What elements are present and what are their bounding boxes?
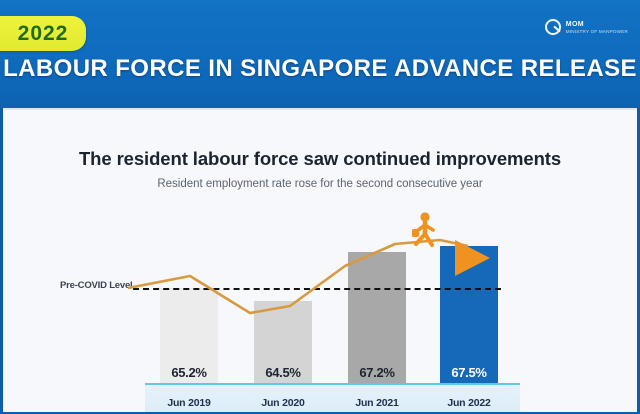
organisation-logo: MOM MINISTRY OF MANPOWER — [545, 19, 628, 36]
bar-fill — [440, 246, 498, 383]
bar-fill — [348, 252, 406, 383]
bar-value-label: 65.2% — [160, 365, 218, 380]
left-frame-edge — [0, 108, 3, 414]
year-badge-label: 2022 — [4, 22, 69, 46]
header-banner: 2022 MOM MINISTRY OF MANPOWER LABOUR FOR… — [0, 0, 640, 108]
x-axis-label: Jun 2022 — [434, 397, 504, 409]
logo-subtitle: MINISTRY OF MANPOWER — [566, 30, 628, 35]
bar-value-label: 64.5% — [254, 365, 312, 380]
bar-value-label: 67.5% — [440, 365, 498, 380]
upward-trend-arrow — [0, 108, 640, 414]
x-axis-label: Jun 2019 — [154, 397, 224, 409]
year-badge: 2022 — [0, 16, 86, 51]
x-axis-label: Jun 2020 — [248, 397, 318, 409]
logo-text: MOM MINISTRY OF MANPOWER — [566, 21, 628, 35]
logo-title: MOM — [566, 21, 628, 28]
walking-person-icon — [406, 212, 440, 252]
pre-covid-reference-line — [133, 288, 501, 290]
content-area: The resident labour force saw continued … — [0, 108, 640, 414]
x-axis-label: Jun 2021 — [342, 397, 412, 409]
page-title: LABOUR FORCE IN SINGAPORE ADVANCE RELEAS… — [0, 55, 640, 83]
mom-magnifier-logo-icon — [545, 19, 562, 36]
bar-value-label: 67.2% — [348, 365, 406, 380]
bar-chart: 65.2% Jun 2019 64.5% Jun 2020 67.2% Jun … — [0, 108, 640, 414]
pre-covid-reference-label: Pre-COVID Level — [60, 280, 133, 291]
slide: 2022 MOM MINISTRY OF MANPOWER LABOUR FOR… — [0, 0, 640, 414]
